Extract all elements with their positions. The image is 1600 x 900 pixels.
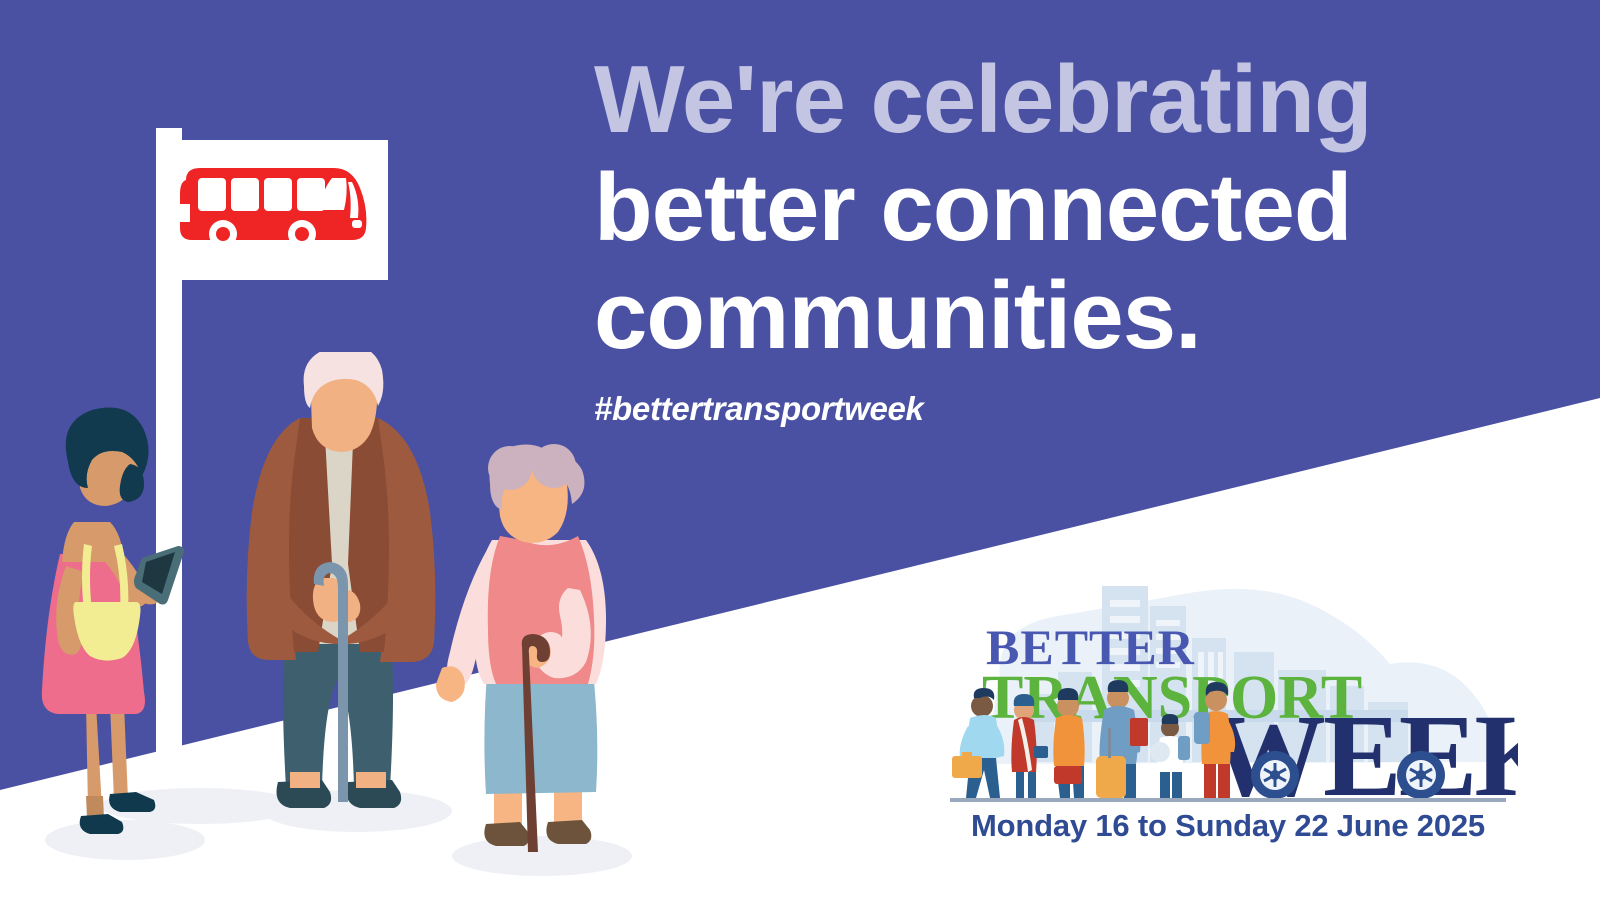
person-elderly-woman-with-cane (430, 440, 630, 865)
better-transport-week-logo: BETTER TRANSPORT WEEK (938, 560, 1518, 870)
headline-line-3: communities. (594, 262, 1494, 370)
bus-icon (176, 160, 371, 265)
logo-word-week: WEEK (1208, 690, 1518, 810)
logo-artwork: BETTER TRANSPORT WEEK (938, 560, 1518, 810)
logo-wheel-left (1251, 751, 1299, 799)
logo-date-label: Monday 16 to Sunday 22 June 2025 (938, 808, 1518, 844)
hashtag-label: #bettertransportweek (594, 390, 1494, 428)
headline-line-1: We're celebrating (594, 46, 1494, 154)
logo-wheel-right (1397, 751, 1445, 799)
headline-block: We're celebrating better connected commu… (594, 46, 1494, 428)
logo-ground-line (950, 798, 1506, 802)
headline-line-2: better connected (594, 154, 1494, 262)
person-elderly-man-with-cane (238, 352, 448, 837)
person-woman-with-phone (18, 404, 218, 869)
campaign-banner: We're celebrating better connected commu… (0, 0, 1600, 900)
